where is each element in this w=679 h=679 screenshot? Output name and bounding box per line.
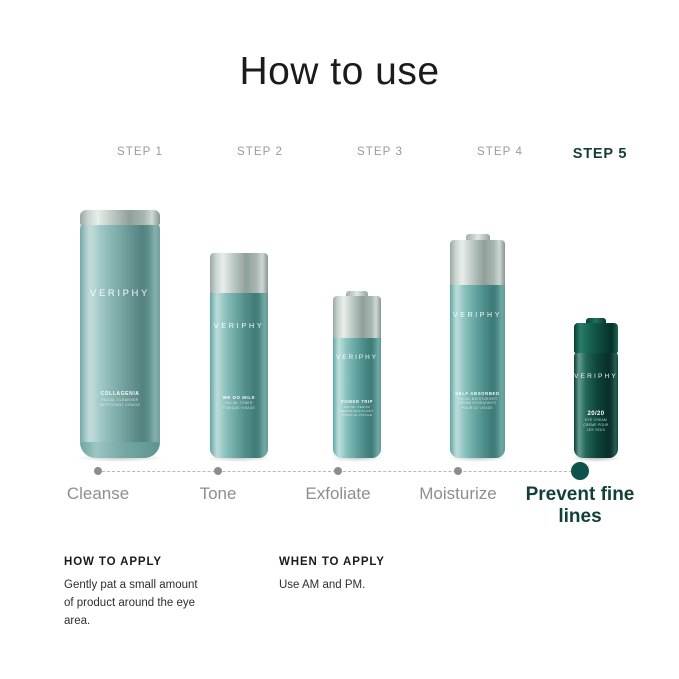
gloss-highlight — [450, 278, 505, 458]
product-image-toner: VERIPHY WE DO MILK FACIAL TONERTONIQUE V… — [210, 253, 268, 458]
product-label: WE DO MILK FACIAL TONERTONIQUE VISAGE — [210, 396, 268, 410]
step-name-cleanse: Cleanse — [33, 484, 163, 504]
bottle-body — [333, 330, 381, 458]
product-image-cleanser: VERIPHY COLLAGENIA FACIAL CLEANSERNETTOY… — [80, 210, 160, 458]
timeline-dot-2 — [214, 467, 222, 475]
product-label: 20/20 EYE CREAMCREME POURLES YEUX — [574, 411, 618, 432]
step-column-5: STEP 5 — [540, 146, 660, 162]
gloss-highlight — [210, 286, 268, 458]
step-column-1: STEP 1 — [80, 146, 200, 158]
brand-name: VERIPHY — [450, 312, 505, 319]
tube-cap — [80, 210, 160, 225]
gloss-highlight — [80, 220, 160, 458]
how-to-apply-heading: HOW TO APPLY — [64, 556, 274, 568]
product-label: POWER TRIP FACIAL SERUMSERUM EXFOLIANTPO… — [333, 400, 381, 418]
how-to-apply-text: Gently pat a small amount of product aro… — [64, 577, 204, 630]
bottle-cap — [574, 323, 618, 353]
step-label-3: STEP 3 — [320, 146, 440, 158]
timeline-dot-3 — [334, 467, 342, 475]
brand-name: VERIPHY — [80, 288, 160, 299]
bottle-cap — [450, 240, 505, 285]
product-image-serum: VERIPHY POWER TRIP FACIAL SERUMSERUM EXF… — [333, 296, 381, 458]
step-label-2: STEP 2 — [200, 146, 320, 158]
brand-name: VERIPHY — [210, 321, 268, 330]
when-to-apply-block: WHEN TO APPLY Use AM and PM. — [279, 556, 509, 595]
product-image-moisturizer: VERIPHY SELF ABSORBED FACIAL MOISTURIZER… — [450, 240, 505, 458]
progress-timeline — [42, 462, 642, 482]
when-to-apply-text: Use AM and PM. — [279, 577, 479, 595]
step-label-5: STEP 5 — [540, 146, 660, 162]
gloss-highlight — [333, 330, 381, 458]
product-image-eye-cream: VERIPHY 20/20 EYE CREAMCREME POURLES YEU… — [574, 323, 618, 458]
page-title: How to use — [0, 50, 679, 94]
step-name-tone: Tone — [153, 484, 283, 504]
step-label-1: STEP 1 — [80, 146, 200, 158]
infographic-page: How to use STEP 1 STEP 2 STEP 3 STEP 4 S… — [0, 0, 679, 679]
how-to-apply-block: HOW TO APPLY Gently pat a small amount o… — [64, 556, 274, 630]
product-lineup: VERIPHY COLLAGENIA FACIAL CLEANSERNETTOY… — [42, 168, 642, 458]
product-subtitle: FACIAL MOISTURIZERCREME HYDRATANTEPOUR L… — [450, 397, 505, 411]
brand-name: VERIPHY — [333, 354, 381, 361]
gloss-highlight — [574, 350, 618, 458]
product-subtitle: EYE CREAMCREME POURLES YEUX — [574, 418, 618, 432]
bottle-cap — [210, 253, 268, 293]
product-title: 20/20 — [574, 411, 618, 418]
product-label: COLLAGENIA FACIAL CLEANSERNETTOYANT VISA… — [80, 392, 160, 408]
step-column-3: STEP 3 — [320, 146, 440, 158]
step-column-2: STEP 2 — [200, 146, 320, 158]
brand-name: VERIPHY — [574, 373, 618, 380]
tube-crimp — [80, 442, 160, 458]
bottle-body — [450, 278, 505, 458]
bottle-body — [574, 350, 618, 458]
tube-body — [80, 220, 160, 458]
step-name-exfoliate: Exfoliate — [273, 484, 403, 504]
step-name-moisturize: Moisturize — [393, 484, 523, 504]
product-subtitle: FACIAL TONERTONIQUE VISAGE — [210, 401, 268, 411]
bottle-body — [210, 286, 268, 458]
timeline-dot-1 — [94, 467, 102, 475]
step-name-prevent-fine-lines: Prevent fine lines — [515, 484, 645, 529]
step-name-row: Cleanse Tone Exfoliate Moisturize Preven… — [42, 484, 642, 544]
product-subtitle: FACIAL CLEANSERNETTOYANT VISAGE — [80, 398, 160, 408]
product-label: SELF ABSORBED FACIAL MOISTURIZERCREME HY… — [450, 392, 505, 411]
timeline-dot-4 — [454, 467, 462, 475]
timeline-dot-5-active — [571, 462, 589, 480]
product-subtitle: FACIAL SERUMSERUM EXFOLIANTPOUR LE VISAG… — [333, 405, 381, 418]
when-to-apply-heading: WHEN TO APPLY — [279, 556, 509, 568]
bottle-cap — [333, 296, 381, 338]
